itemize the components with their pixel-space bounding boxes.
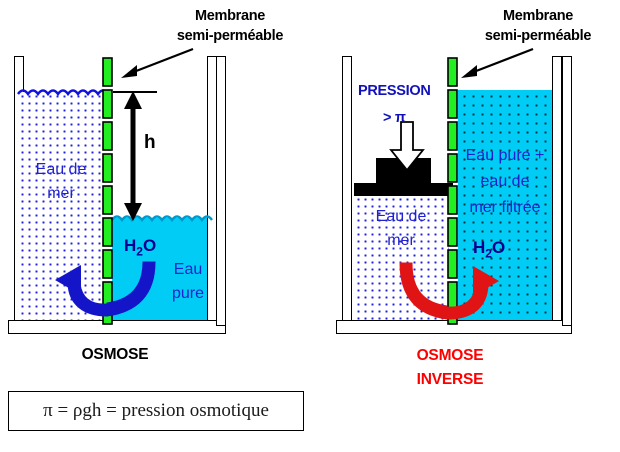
height-difference-arrow [120, 91, 146, 221]
purewater-label-left-line2: pure [163, 282, 213, 306]
beaker-left-wall-right-panel [342, 56, 352, 326]
left-panel-osmosis: Membrane semi-perméable [0, 0, 310, 452]
seawater-surface-left [18, 86, 106, 96]
caption-osmose: OSMOSE [0, 346, 230, 364]
filtered-water-label-line1: Eau pure + [456, 143, 554, 169]
pressure-label: PRESSION [358, 83, 431, 99]
seawater-label-left-line1: Eau de [20, 158, 102, 182]
membrane-label-right: Membrane semi-perméable [458, 6, 618, 46]
reverse-osmosis-flow-arrow-red [395, 253, 505, 325]
caption-osmose-inverse-line2: INVERSE [350, 368, 550, 392]
pressure-condition-label: > π [383, 110, 406, 126]
membrane-label-left-line1: Membrane [150, 6, 310, 26]
osmosis-flow-arrow-blue [55, 250, 165, 320]
formula-box: π = ρgh = pression osmotique [8, 391, 304, 431]
purewater-label-left: Eau pure [163, 258, 213, 306]
seawater-label-left: Eau de mer [20, 158, 102, 206]
beaker-outer-right-panel [562, 56, 572, 326]
right-panel-reverse-osmosis: Membrane semi-perméable PRESSION > π [310, 0, 620, 452]
caption-osmose-inverse: OSMOSE INVERSE [350, 344, 550, 392]
seawater-label-right-line2: mer [356, 229, 446, 253]
membrane-label-left: Membrane semi-perméable [150, 6, 310, 46]
filtered-water-label-line2: eau de [456, 169, 554, 195]
beaker-outer-right [216, 56, 226, 326]
caption-osmose-inverse-line1: OSMOSE [350, 344, 550, 368]
formula-text: π = ρgh = pression osmotique [43, 400, 269, 422]
filtered-water-label: Eau pure + eau de mer filtrée [456, 143, 554, 221]
membrane-callout-arrow-left [115, 45, 195, 85]
seawater-label-right-line1: Eau de [356, 205, 446, 229]
membrane-label-right-line2: semi-perméable [458, 26, 618, 46]
beaker-base [8, 320, 226, 334]
membrane-label-right-line1: Membrane [458, 6, 618, 26]
membrane-callout-arrow-right [455, 45, 535, 85]
filtered-water-label-line3: mer filtrée [456, 195, 554, 221]
seawater-label-right-panel: Eau de mer [356, 205, 446, 253]
piston-plate [354, 183, 453, 196]
seawater-label-left-line2: mer [20, 182, 102, 206]
purewater-label-left-line1: Eau [163, 258, 213, 282]
membrane-label-left-line2: semi-perméable [150, 26, 310, 46]
height-label-h: h [144, 132, 156, 154]
pressure-arrow-white [389, 122, 425, 172]
osmosis-diagram: Membrane semi-perméable [0, 0, 620, 452]
